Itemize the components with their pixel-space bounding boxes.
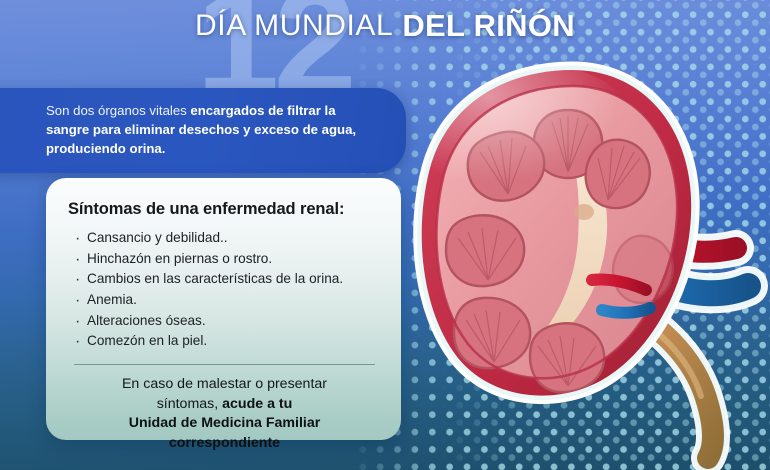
poster-canvas: 12 DÍA MUNDIAL DEL RIÑÓN Son dos órganos…: [0, 0, 770, 470]
halftone-dot-pattern: [350, 0, 770, 470]
cta-line-2-bold: acude a tu: [222, 396, 292, 412]
symptoms-list: Cansancio y debilidad.. Hinchazón en pie…: [68, 228, 381, 352]
title-bold-part: DEL RIÑÓN: [402, 8, 575, 44]
page-title: DÍA MUNDIAL DEL RIÑÓN: [0, 0, 770, 52]
list-item: Cansancio y debilidad..: [74, 228, 381, 249]
call-to-action-text: En caso de malestar o presentarsíntomas,…: [68, 375, 381, 453]
renal-artery-group: [536, 180, 736, 341]
list-item: Hinchazón en piernas o rostro.: [74, 249, 381, 270]
cta-line-2-plain: síntomas,: [157, 396, 222, 412]
intro-text-plain-1: Son dos órganos vitales: [46, 103, 190, 118]
cta-line-3: Unidad de Medicina Familiar: [129, 415, 321, 431]
ureter-group: [582, 284, 713, 458]
kidney-illustration: [396, 48, 770, 470]
intro-banner: Son dos órganos vitales encargados de fi…: [0, 88, 406, 173]
intro-banner-text: Son dos órganos vitales encargados de fi…: [46, 101, 378, 158]
list-item: Cambios en las características de la ori…: [74, 269, 381, 290]
title-light-part: DÍA MUNDIAL: [195, 9, 393, 43]
symptoms-card: Síntomas de una enfermedad renal: Cansan…: [46, 178, 401, 440]
medullary-rays: [458, 116, 640, 386]
halftone-dot-pattern-secondary: [440, 0, 770, 470]
cta-line-1: En caso de malestar o presentar: [122, 376, 327, 392]
list-item: Anemia.: [74, 290, 381, 311]
list-item: Comezón en la piel.: [74, 331, 381, 352]
list-item: Alteraciones óseas.: [74, 311, 381, 332]
cta-line-4: correspondiente: [169, 435, 280, 451]
hilum-vessels: [592, 279, 650, 312]
card-divider: [74, 364, 375, 365]
intro-text-bold-2: para eliminar desechos y exceso de agua,…: [46, 122, 356, 156]
renal-pyramids: [446, 110, 673, 392]
renal-vein-group: [496, 216, 748, 354]
symptoms-heading: Síntomas de una enfermedad renal:: [68, 200, 381, 219]
kidney-body-group: [408, 62, 691, 396]
